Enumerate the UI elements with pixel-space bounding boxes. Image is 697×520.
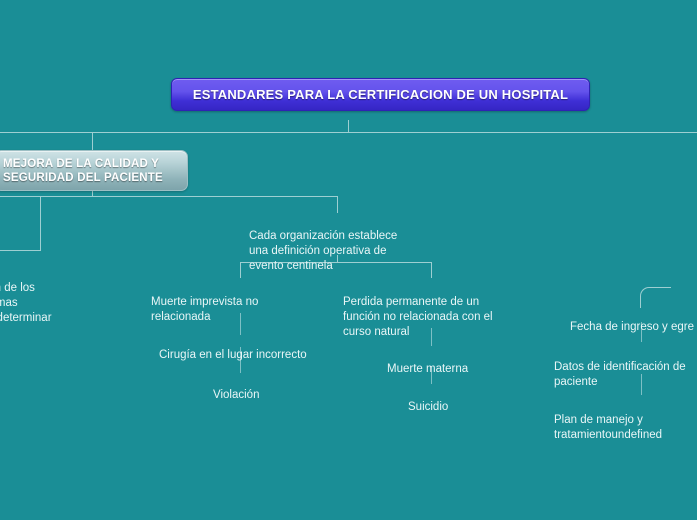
node-root[interactable]: ESTANDARES PARA LA CERTIFICACION DE UN H…: [171, 78, 590, 111]
node-root-label: ESTANDARES PARA LA CERTIFICACION DE UN H…: [193, 87, 568, 102]
node-suicide[interactable]: Suicidio: [408, 385, 508, 415]
node-maternal-death[interactable]: Muerte materna: [387, 347, 507, 377]
node-wrong-site-surgery-label: Cirugía en el lugar incorrecto: [159, 349, 307, 361]
connector-to-clipped-left: [40, 196, 41, 250]
node-suicide-label: Suicidio: [408, 401, 448, 413]
node-management-plan-label: Plan de manejo y tratamientoundefined: [554, 414, 662, 441]
node-rape[interactable]: Violación: [213, 373, 333, 403]
node-clipped-management[interactable]: y gestión de los y problemas os para det…: [0, 266, 95, 326]
node-patient-identification-data[interactable]: Datos de identificación de paciente: [554, 345, 697, 390]
node-maternal-death-label: Muerte materna: [387, 363, 468, 375]
node-patient-identification-data-label: Datos de identificación de paciente: [554, 361, 686, 388]
node-sentinel-definition-label: Cada organización establece una definici…: [249, 230, 397, 272]
node-rape-label: Violación: [213, 389, 259, 401]
connector-main-spine: [0, 132, 697, 133]
node-admission-discharge-date-label: Fecha de ingreso y egre: [570, 321, 694, 333]
node-management-plan[interactable]: Plan de manejo y tratamientoundefined: [554, 398, 697, 443]
node-quality-and-patient-safety-label: MEJORA DE LA CALIDAD Y SEGURIDAD DEL PAC…: [3, 157, 187, 185]
node-permanent-loss-label: Perdida permanente de un función no rela…: [343, 296, 493, 338]
node-sentinel-definition[interactable]: Cada organización establece una definici…: [249, 214, 419, 274]
connector-split-left-drop: [240, 262, 241, 278]
node-quality-and-patient-safety[interactable]: MEJORA DE LA CALIDAD Y SEGURIDAD DEL PAC…: [0, 150, 188, 191]
node-permanent-loss[interactable]: Perdida permanente de un función no rela…: [343, 280, 513, 340]
connector-split-right-drop: [431, 262, 432, 278]
connector-clipped-left-bar: [0, 250, 41, 251]
node-unexpected-death[interactable]: Muerte imprevista no relacionada: [151, 280, 286, 325]
node-wrong-site-surgery[interactable]: Cirugía en el lugar incorrecto: [159, 333, 334, 363]
node-admission-discharge-date[interactable]: Fecha de ingreso y egre: [570, 305, 697, 335]
mindmap-canvas: ESTANDARES PARA LA CERTIFICACION DE UN H…: [0, 0, 697, 520]
connector-to-sentinel-definition: [337, 196, 338, 213]
connector-quality-distribution: [0, 196, 338, 197]
connector-spine-to-quality: [92, 132, 93, 151]
node-clipped-management-label: y gestión de los y problemas os para det…: [0, 282, 52, 324]
node-unexpected-death-label: Muerte imprevista no relacionada: [151, 296, 258, 323]
